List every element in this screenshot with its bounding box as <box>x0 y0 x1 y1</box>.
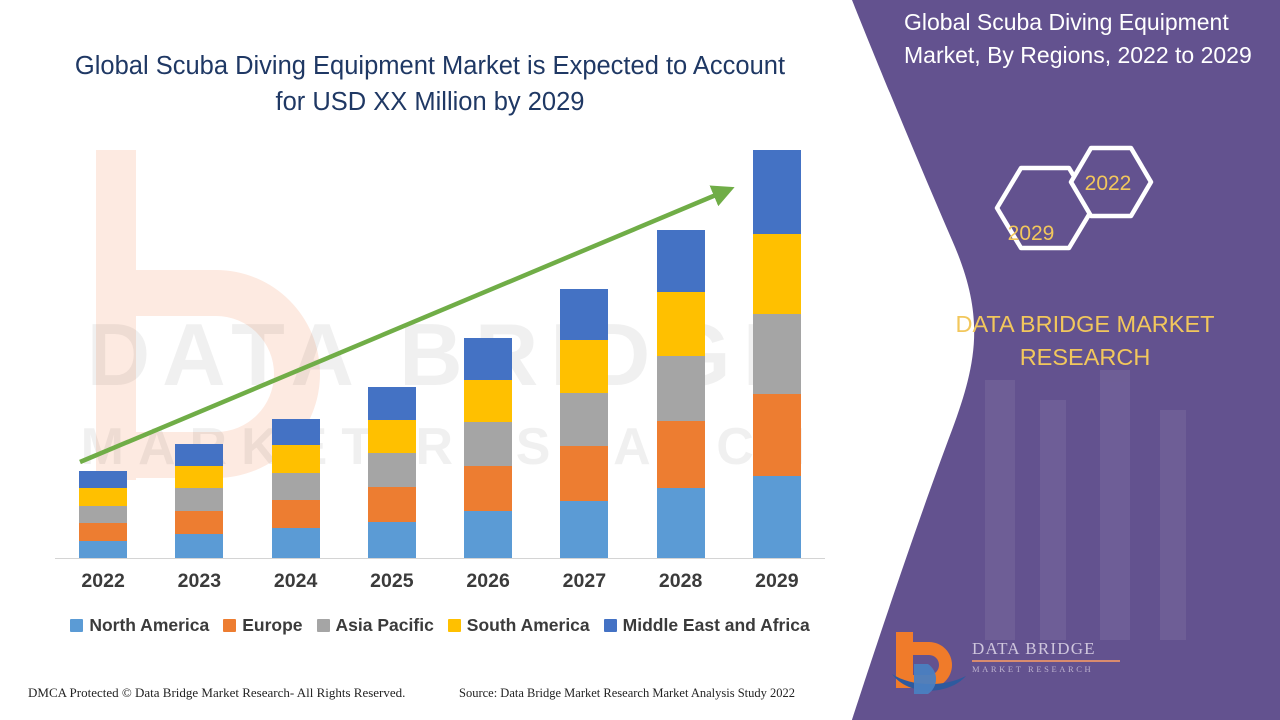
bar-segment <box>753 234 801 314</box>
brand-name: DATA BRIDGE MARKET RESEARCH <box>910 308 1260 374</box>
x-axis-tick-labels: 20222023202420252026202720282029 <box>55 570 825 593</box>
bar-segment <box>657 421 705 488</box>
bar-column <box>248 150 344 558</box>
bar-segment <box>464 466 512 511</box>
bar-segment <box>464 338 512 380</box>
legend-swatch-icon <box>604 619 617 632</box>
x-axis-tick-label: 2022 <box>55 570 151 593</box>
bar-stack <box>753 150 801 558</box>
bar-column <box>55 150 151 558</box>
bar-segment <box>753 150 801 234</box>
logo-divider <box>972 660 1120 662</box>
x-axis-tick-label: 2028 <box>633 570 729 593</box>
legend-label: Middle East and Africa <box>623 615 810 636</box>
bar-segment <box>175 534 223 558</box>
bar-segment <box>657 292 705 355</box>
bar-segment <box>560 393 608 447</box>
bar-segment <box>464 511 512 558</box>
bar-column <box>729 150 825 558</box>
x-axis-tick-label: 2026 <box>440 570 536 593</box>
bar-segment <box>560 501 608 558</box>
bar-segment <box>560 446 608 501</box>
x-axis-line <box>55 558 825 559</box>
bar-segment <box>657 230 705 292</box>
x-axis-tick-label: 2024 <box>248 570 344 593</box>
bar-segment <box>560 289 608 340</box>
right-panel: Global Scuba Diving Equipment Market, By… <box>890 0 1280 720</box>
slide-root: DATA BRIDGE MARKET RESEARCH Global Scuba… <box>0 0 1280 720</box>
bar-segment <box>657 488 705 558</box>
bar-stack <box>272 419 320 558</box>
legend-swatch-icon <box>317 619 330 632</box>
dbmr-logo-text: DATA BRIDGE MARKET RESEARCH <box>972 640 1122 673</box>
x-axis-tick-label: 2029 <box>729 570 825 593</box>
legend-swatch-icon <box>223 619 236 632</box>
bar-segment <box>368 522 416 558</box>
bar-segment <box>272 419 320 445</box>
bar-segment <box>368 420 416 453</box>
hexagon-outlines-icon <box>975 130 1175 290</box>
chart-legend: North AmericaEuropeAsia PacificSouth Ame… <box>45 615 835 636</box>
legend-label: Asia Pacific <box>336 615 434 636</box>
bar-segment <box>753 314 801 394</box>
plot-area <box>55 150 825 558</box>
source-note: Source: Data Bridge Market Research Mark… <box>459 686 795 701</box>
legend-item[interactable]: South America <box>448 615 590 636</box>
bar-segment <box>272 445 320 472</box>
bar-segment <box>560 340 608 393</box>
bar-segment <box>464 422 512 466</box>
bar-segment <box>79 488 127 506</box>
bar-stack <box>79 471 127 559</box>
legend-label: South America <box>467 615 590 636</box>
legend-swatch-icon <box>448 619 461 632</box>
chart <box>55 150 825 560</box>
bar-segment <box>368 487 416 522</box>
bar-stack <box>464 338 512 558</box>
bar-segment <box>79 523 127 541</box>
x-axis-tick-label: 2025 <box>344 570 440 593</box>
bar-segment <box>753 394 801 476</box>
bar-column <box>440 150 536 558</box>
legend-item[interactable]: Asia Pacific <box>317 615 434 636</box>
legend-item[interactable]: Middle East and Africa <box>604 615 810 636</box>
bar-segment <box>272 473 320 500</box>
logo-subtitle: MARKET RESEARCH <box>972 665 1122 674</box>
legend-label: Europe <box>242 615 302 636</box>
bar-segment <box>175 488 223 511</box>
panel-title: Global Scuba Diving Equipment Market, By… <box>904 6 1272 73</box>
bar-segment <box>79 506 127 524</box>
legend-item[interactable]: North America <box>70 615 209 636</box>
bar-segment <box>175 444 223 466</box>
copyright-notice: DMCA Protected © Data Bridge Market Rese… <box>28 685 405 701</box>
bar-column <box>536 150 632 558</box>
bar-stack <box>368 387 416 558</box>
legend-label: North America <box>89 615 209 636</box>
bar-segment <box>79 471 127 489</box>
logo-title: DATA BRIDGE <box>972 640 1122 657</box>
legend-swatch-icon <box>70 619 83 632</box>
bar-segment <box>753 476 801 558</box>
bar-segment <box>272 500 320 528</box>
bar-series-container <box>55 150 825 558</box>
bar-column <box>633 150 729 558</box>
bar-segment <box>175 466 223 488</box>
dbmr-logo: DATA BRIDGE MARKET RESEARCH <box>890 630 1130 700</box>
x-axis-tick-label: 2023 <box>151 570 247 593</box>
bar-column <box>151 150 247 558</box>
bar-segment <box>464 380 512 423</box>
bar-stack <box>560 289 608 558</box>
hexagon-2029-label: 2029 <box>996 222 1066 246</box>
hexagon-group: 2022 2029 <box>975 130 1175 290</box>
bar-segment <box>79 541 127 559</box>
x-axis-tick-label: 2027 <box>536 570 632 593</box>
hexagon-2022-label: 2022 <box>1073 172 1143 196</box>
bar-segment <box>368 387 416 420</box>
bar-segment <box>272 528 320 558</box>
bar-segment <box>368 453 416 487</box>
dbmr-logo-mark-icon <box>890 630 976 696</box>
page-title: Global Scuba Diving Equipment Market is … <box>60 48 800 120</box>
legend-item[interactable]: Europe <box>223 615 302 636</box>
bar-segment <box>657 356 705 422</box>
bar-stack <box>657 230 705 558</box>
bar-stack <box>175 444 223 558</box>
bar-column <box>344 150 440 558</box>
bar-segment <box>175 511 223 534</box>
